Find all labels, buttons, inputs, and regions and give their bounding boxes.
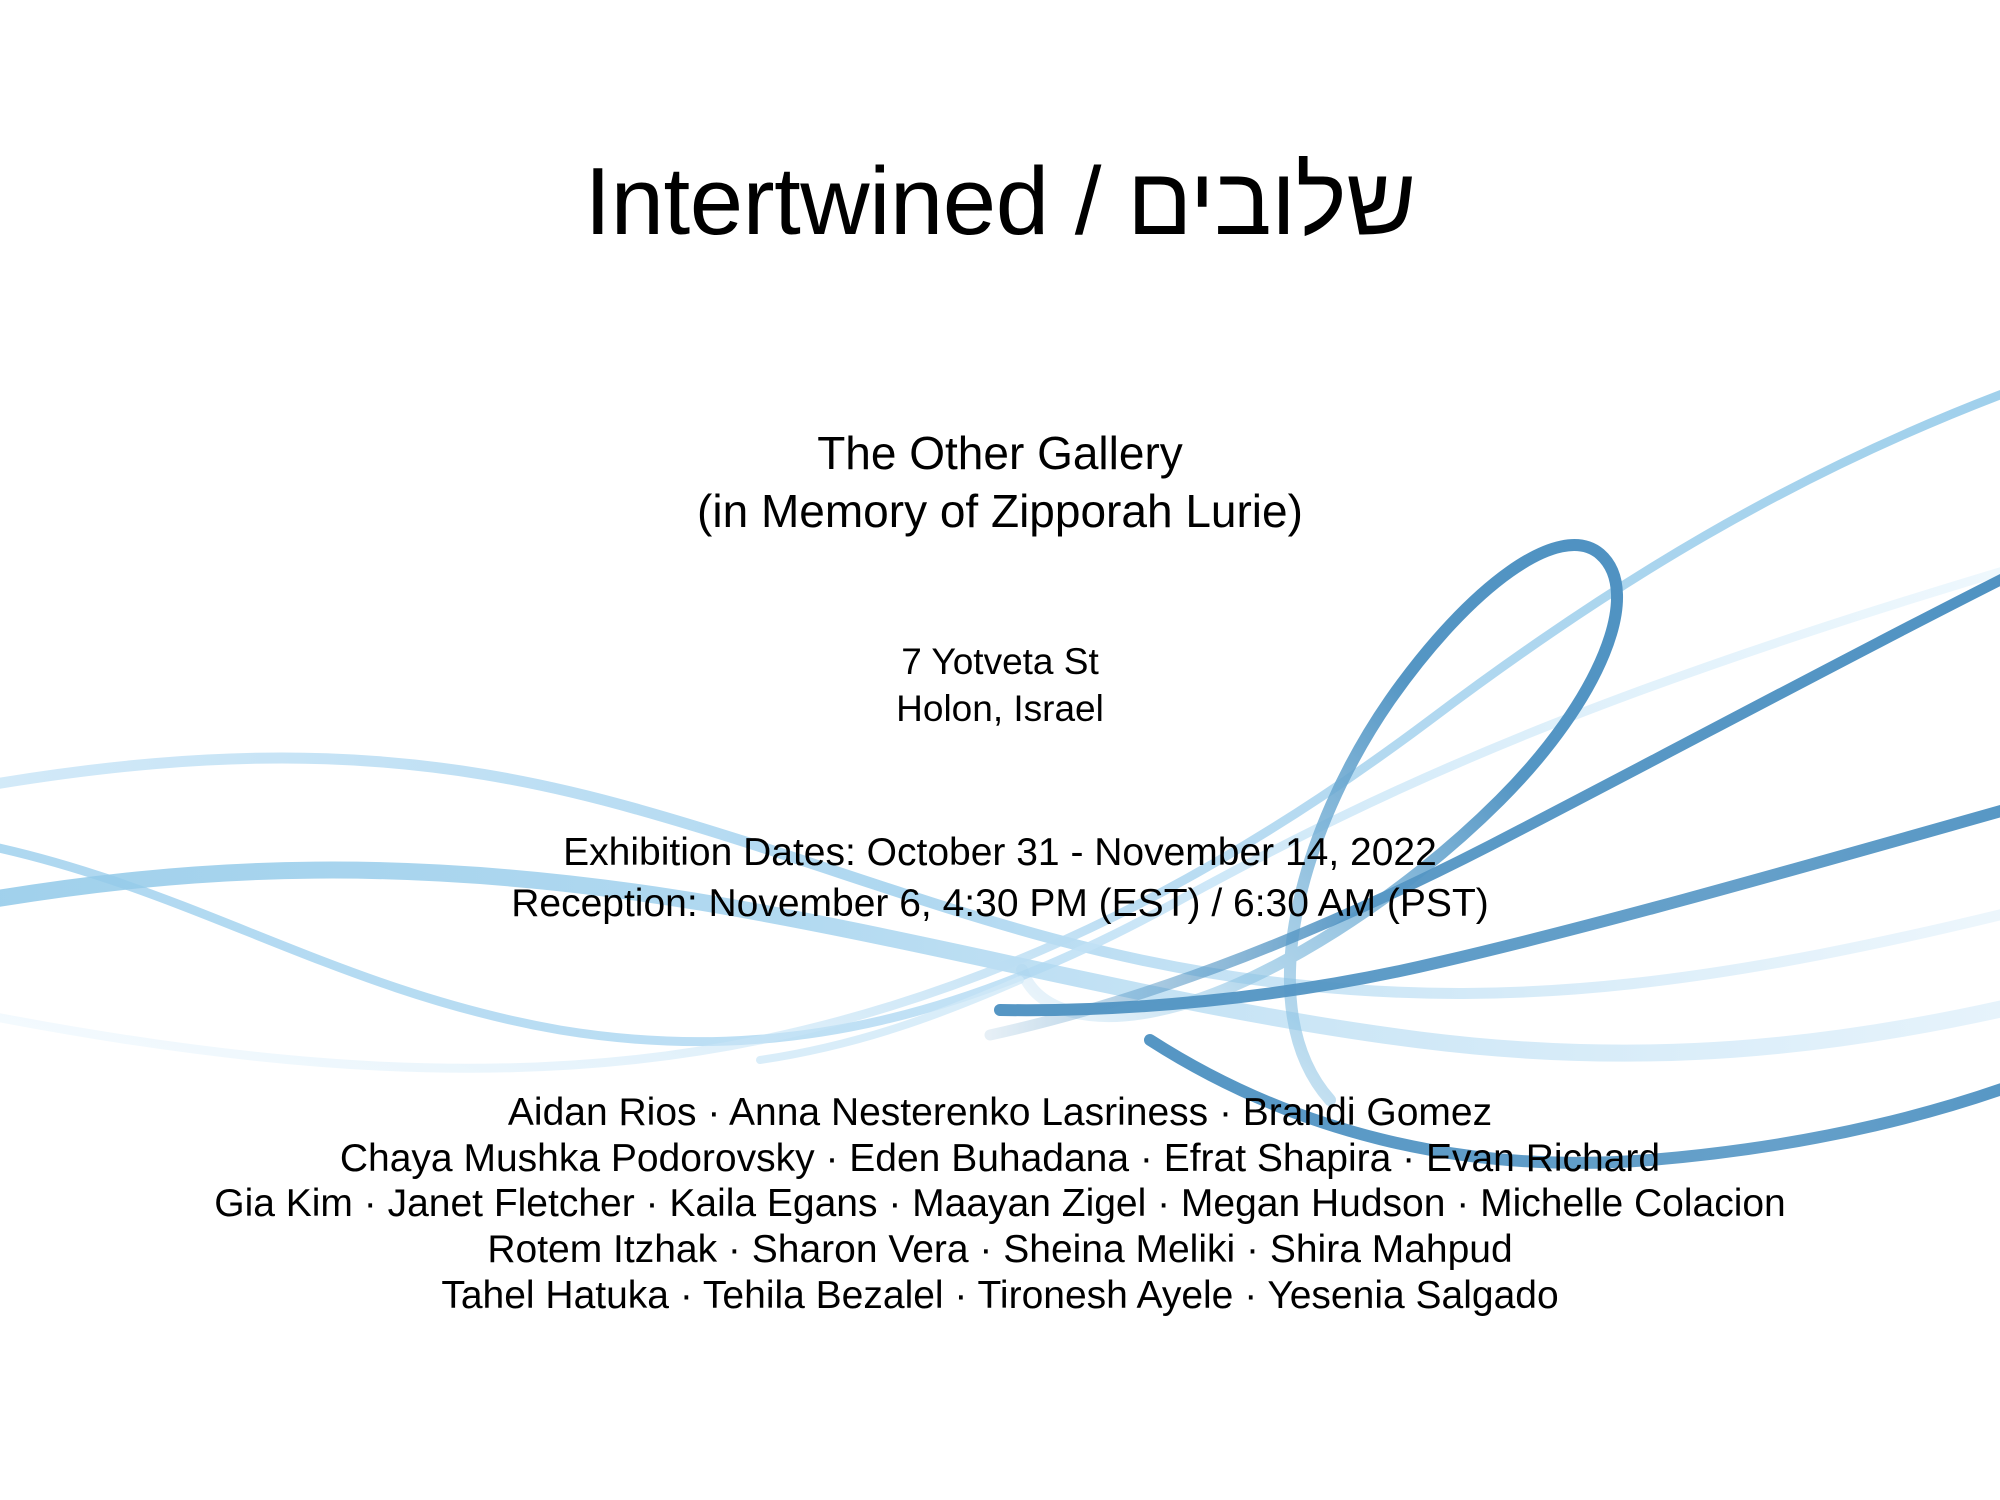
exhibition-poster: Intertwined / שלובים The Other Gallery (… (0, 0, 2000, 1500)
poster-title: Intertwined / שלובים (0, 146, 2000, 257)
reception-details: Reception: November 6, 4:30 PM (EST) / 6… (0, 879, 2000, 930)
artist-line: Tahel Hatuka · Tehila Bezalel · Tironesh… (0, 1273, 2000, 1319)
gallery-name: The Other Gallery (0, 424, 2000, 482)
artist-line: Chaya Mushka Podorovsky · Eden Buhadana … (0, 1136, 2000, 1182)
address-street: 7 Yotveta St (0, 638, 2000, 685)
artist-line: Gia Kim · Janet Fletcher · Kaila Egans ·… (0, 1181, 2000, 1227)
address-city-country: Holon, Israel (0, 685, 2000, 732)
event-dates: Exhibition Dates: October 31 - November … (0, 828, 2000, 929)
gallery-address: 7 Yotveta St Holon, Israel (0, 638, 2000, 733)
artist-list: Aidan Rios · Anna Nesterenko Lasriness ·… (0, 1090, 2000, 1318)
gallery-info: The Other Gallery (in Memory of Zipporah… (0, 424, 2000, 541)
artist-line: Rotem Itzhak · Sharon Vera · Sheina Meli… (0, 1227, 2000, 1273)
artist-line: Aidan Rios · Anna Nesterenko Lasriness ·… (0, 1090, 2000, 1136)
gallery-dedication: (in Memory of Zipporah Lurie) (0, 482, 2000, 540)
title-separator: / (1049, 148, 1128, 255)
title-hebrew: שלובים (1127, 145, 1415, 257)
title-latin: Intertwined (584, 148, 1048, 255)
exhibition-dates: Exhibition Dates: October 31 - November … (0, 828, 2000, 879)
